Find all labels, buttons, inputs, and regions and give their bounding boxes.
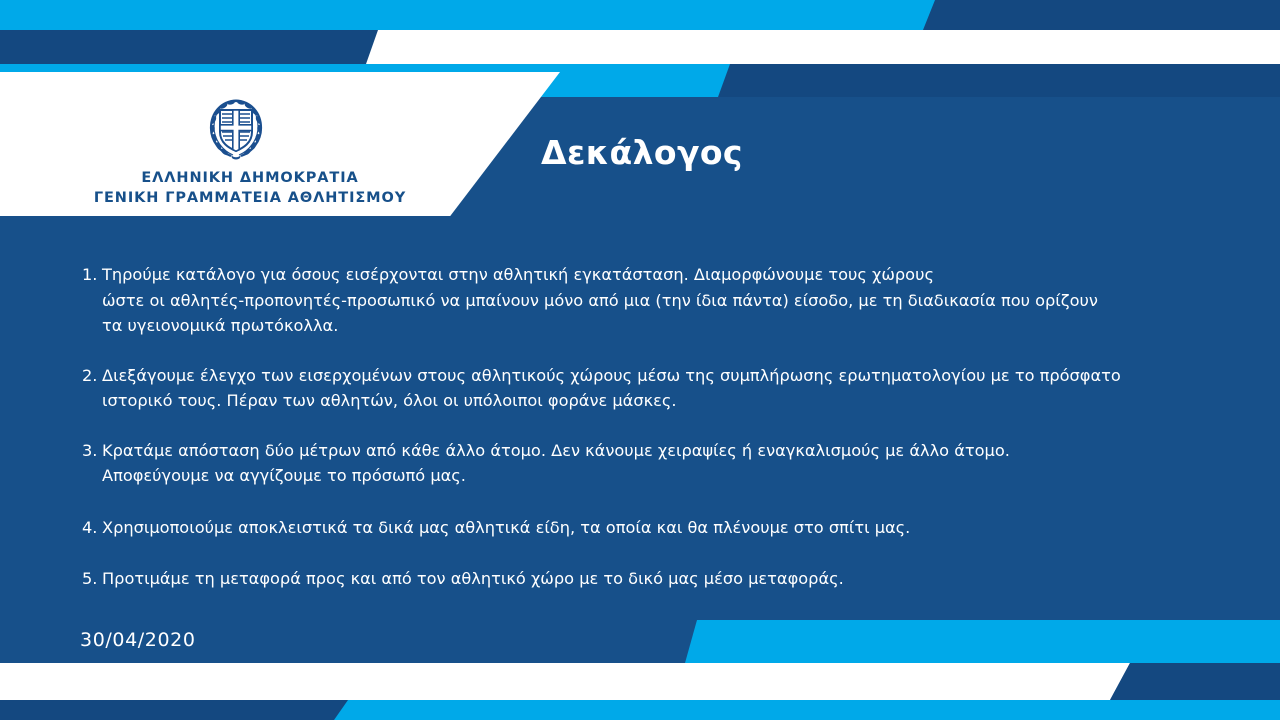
rule-number: 3. [82,438,102,464]
rule-number: 4. [82,515,102,541]
rule-text: Χρησιμοποιούμε αποκλειστικά τα δικά μας … [102,515,1212,541]
presentation-slide: ΕΛΛΗΝΙΚΗ ΔΗΜΟΚΡΑΤΙΑ ΓΕΝΙΚΗ ΓΡΑΜΜΑΤΕΙΑ ΑΘ… [0,0,1280,720]
rule-number: 1. [82,262,102,288]
rule-text: Διεξάγουμε έλεγχο των εισερχομένων στους… [102,363,1212,414]
list-item: 5. Προτιμάμε τη μεταφορά προς και από το… [82,566,1212,592]
org-line-2: ΓΕΝΙΚΗ ΓΡΑΜΜΑΤΕΙΑ ΑΘΛΗΤΙΣΜΟΥ [40,188,460,208]
rule-text: Κρατάμε απόσταση δύο μέτρων από κάθε άλλ… [102,438,1212,489]
list-item: 2. Διεξάγουμε έλεγχο των εισερχομένων στ… [82,363,1212,414]
rule-number: 5. [82,566,102,592]
org-line-1: ΕΛΛΗΝΙΚΗ ΔΗΜΟΚΡΑΤΙΑ [40,168,460,188]
rule-text: Τηρούμε κατάλογο για όσους εισέρχονται σ… [102,262,1212,339]
list-item: 1. Τηρούμε κατάλογο για όσους εισέρχοντα… [82,262,1212,339]
organization-name: ΕΛΛΗΝΙΚΗ ΔΗΜΟΚΡΑΤΙΑ ΓΕΝΙΚΗ ΓΡΑΜΜΑΤΕΙΑ ΑΘ… [40,168,460,208]
list-item: 4. Χρησιμοποιούμε αποκλειστικά τα δικά μ… [82,515,1212,541]
list-item: 3. Κρατάμε απόσταση δύο μέτρων από κάθε … [82,438,1212,489]
rule-number: 2. [82,363,102,389]
page-title: Δεκάλογος [541,133,743,172]
rules-list: 1. Τηρούμε κατάλογο για όσους εισέρχοντα… [82,262,1212,614]
rule-text: Προτιμάμε τη μεταφορά προς και από τον α… [102,566,1212,592]
greek-coat-of-arms-icon [176,92,296,166]
slide-date: 30/04/2020 [80,629,196,651]
